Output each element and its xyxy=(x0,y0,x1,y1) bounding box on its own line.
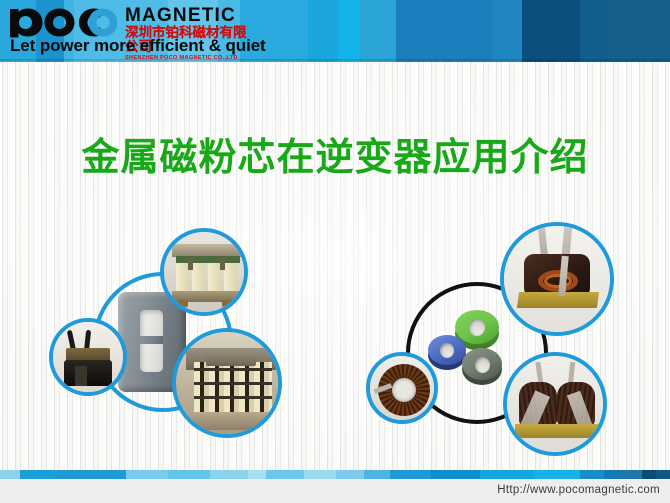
header-band-8 xyxy=(338,0,360,62)
copper-toroid-winding-photo xyxy=(366,352,438,424)
small-black-inductor-photo xyxy=(49,318,127,396)
poco-wordmark-icon xyxy=(9,5,117,38)
footer-segment-10 xyxy=(364,470,390,479)
footer-segment-2 xyxy=(56,470,126,479)
footer-segment-19 xyxy=(656,470,670,479)
logo-company-name-en: SHENZHEN POCO MAGNETIC CO.,LTD xyxy=(125,55,255,62)
footer-segment-5 xyxy=(210,470,248,479)
header-band-14 xyxy=(608,0,670,62)
footer-segment-11 xyxy=(390,470,430,479)
transformer-bank-photo xyxy=(172,328,282,438)
footer-segment-0 xyxy=(0,470,20,479)
company-tagline: Let power more efficient & quiet xyxy=(10,36,266,56)
footer-segment-8 xyxy=(304,470,336,479)
header-band-12 xyxy=(522,0,580,62)
footer-segment-1 xyxy=(20,470,56,479)
footer-segment-15 xyxy=(580,470,604,479)
wound-inductor-pcb-photo xyxy=(500,222,614,336)
header-band-13 xyxy=(580,0,608,62)
c-core-center-leg xyxy=(140,336,163,344)
footer-segment-17 xyxy=(620,470,642,479)
slide-title: 金属磁粉芯在逆变器应用介绍 xyxy=(0,126,670,181)
footer-segment-18 xyxy=(642,470,656,479)
footer-segment-3 xyxy=(126,470,168,479)
footer-segment-7 xyxy=(266,470,304,479)
slide-header: MAGNETIC 深圳市铂科磁材有限公司 SHENZHEN POCO MAGNE… xyxy=(0,0,670,62)
footer-gradient-bar xyxy=(0,470,670,479)
footer-segment-12 xyxy=(430,470,480,479)
footer-segment-14 xyxy=(534,470,580,479)
gray-toroid-core xyxy=(462,348,502,385)
logo-brand-word: MAGNETIC xyxy=(125,6,255,25)
footer-segment-4 xyxy=(168,470,210,479)
header-band-10 xyxy=(396,0,492,62)
footer-segment-9 xyxy=(336,470,364,479)
three-phase-reactor-photo xyxy=(160,228,248,316)
footer-segment-6 xyxy=(248,470,266,479)
dual-wound-inductor-photo xyxy=(503,352,607,456)
footer-segment-16 xyxy=(604,470,620,479)
header-band-7 xyxy=(308,0,338,62)
footer-segment-13 xyxy=(480,470,534,479)
header-band-9 xyxy=(360,0,396,62)
footer-website-url: Http://www.pocomagnetic.com xyxy=(497,484,660,496)
header-band-11 xyxy=(492,0,522,62)
presentation-slide: MAGNETIC 深圳市铂科磁材有限公司 SHENZHEN POCO MAGNE… xyxy=(0,0,670,503)
